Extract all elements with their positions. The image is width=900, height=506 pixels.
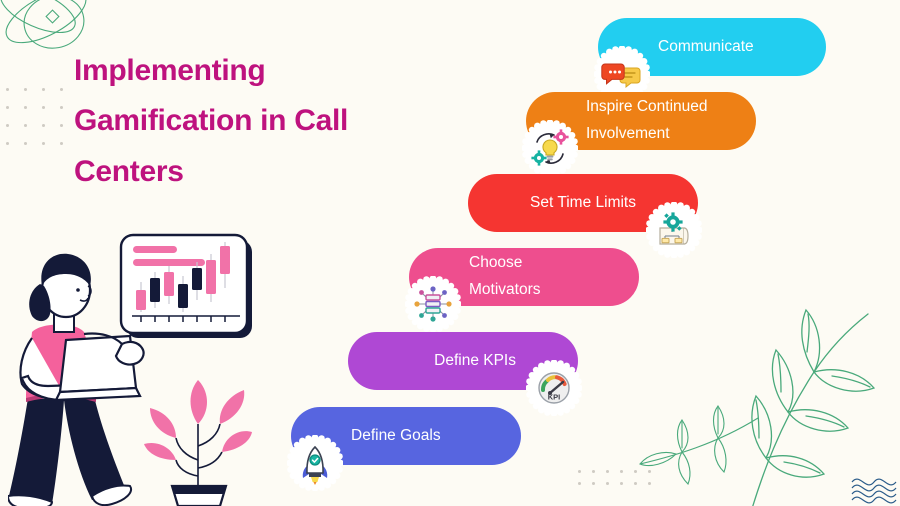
wave-lines-decoration — [850, 470, 898, 504]
step-pill-set-time-limits[interactable]: Set Time Limits — [468, 174, 698, 232]
lightbulb-gears-icon — [522, 93, 578, 149]
step-pill-define-kpis[interactable]: KPI Define KPIs — [348, 332, 578, 390]
page-title: Implementing Gamification in Call Center… — [74, 46, 434, 197]
kpi-gauge-label: KPI — [548, 392, 561, 401]
botanical-branch-decoration — [710, 294, 900, 506]
step-label-inspire-continued-involvement: Inspire Continued Involvement — [586, 94, 708, 147]
step-pill-inspire-continued-involvement[interactable]: Inspire Continued Involvement — [526, 92, 756, 150]
step-pill-choose-motivators[interactable]: Choose Motivators — [409, 248, 639, 306]
step-label-choose-motivators: Choose Motivators — [469, 250, 541, 303]
step-pill-communicate[interactable]: Communicate — [598, 18, 826, 76]
botanical-sprig-decoration — [638, 392, 808, 506]
gear-blueprint-icon — [646, 175, 702, 231]
step-label-define-kpis: Define KPIs — [434, 348, 516, 375]
kpi-gauge-icon: KPI — [526, 333, 582, 389]
dot-grid-decoration-left — [6, 88, 78, 160]
dot-grid-decoration-bottom — [578, 470, 662, 494]
woman-with-laptop-illustration — [8, 228, 264, 506]
step-pill-define-goals[interactable]: Define Goals — [291, 407, 521, 465]
step-label-communicate: Communicate — [658, 34, 754, 61]
speech-bubbles-icon — [594, 19, 650, 75]
step-label-set-time-limits: Set Time Limits — [530, 190, 636, 217]
step-label-define-goals: Define Goals — [351, 423, 441, 450]
rocket-icon — [287, 408, 343, 464]
candlestick-chart-board — [121, 235, 252, 338]
slide-canvas: Implementing Gamification in Call Center… — [0, 0, 900, 506]
network-nodes-icon — [405, 249, 461, 305]
potted-plant — [144, 380, 252, 506]
